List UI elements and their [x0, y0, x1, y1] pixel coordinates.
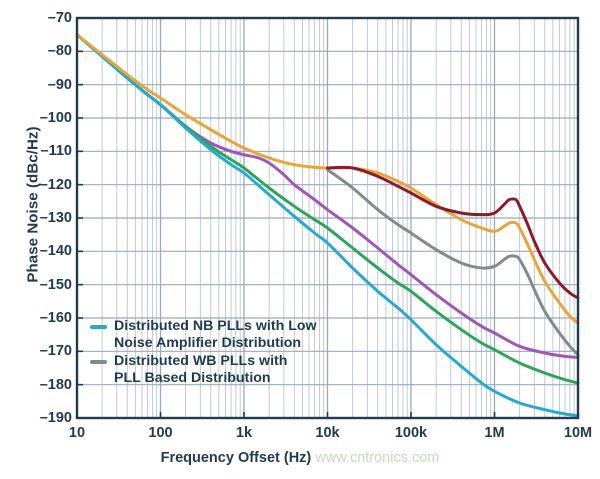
x-tick-label: 1k: [236, 425, 252, 441]
legend-swatch: [90, 360, 107, 364]
x-tick-label: 10: [69, 425, 85, 441]
legend-label-line1: Distributed NB PLLs with Low: [114, 318, 317, 335]
legend-label-line1: Distributed WB PLLs with: [114, 353, 287, 370]
y-tick-label: –180: [20, 377, 72, 393]
y-tick-label: –90: [20, 77, 72, 93]
phase-noise-chart: –70–80–90–100–110–120–130–140–150–160–17…: [0, 0, 600, 479]
x-axis-label: Frequency Offset (Hz) www.cntronics.com: [0, 450, 600, 466]
watermark-text: www.cntronics.com: [315, 450, 439, 466]
legend-label: Distributed WB PLLs withPLL Based Distri…: [114, 353, 287, 387]
y-axis-label: Phase Noise (dBc/Hz): [25, 95, 42, 315]
chart-canvas: [0, 0, 600, 479]
x-tick-label: 100k: [395, 425, 427, 441]
legend-item: Distributed NB PLLs with LowNoise Amplif…: [90, 318, 317, 352]
x-tick-label: 10k: [315, 425, 339, 441]
y-tick-label: –190: [20, 410, 72, 426]
chart-legend: Distributed NB PLLs with LowNoise Amplif…: [90, 318, 317, 388]
legend-item: Distributed WB PLLs withPLL Based Distri…: [90, 353, 317, 387]
y-tick-label: –170: [20, 343, 72, 359]
y-tick-label: –80: [20, 43, 72, 59]
legend-label-line2: PLL Based Distribution: [114, 370, 287, 387]
legend-label-line2: Noise Amplifier Distribution: [114, 335, 317, 352]
legend-label: Distributed NB PLLs with LowNoise Amplif…: [114, 318, 317, 352]
y-tick-label: –70: [20, 10, 72, 26]
x-tick-label: 10M: [564, 425, 592, 441]
x-tick-label: 1M: [484, 425, 504, 441]
legend-swatch: [90, 325, 107, 329]
x-axis-label-text: Frequency Offset (Hz): [161, 450, 312, 466]
x-tick-label: 100: [148, 425, 172, 441]
